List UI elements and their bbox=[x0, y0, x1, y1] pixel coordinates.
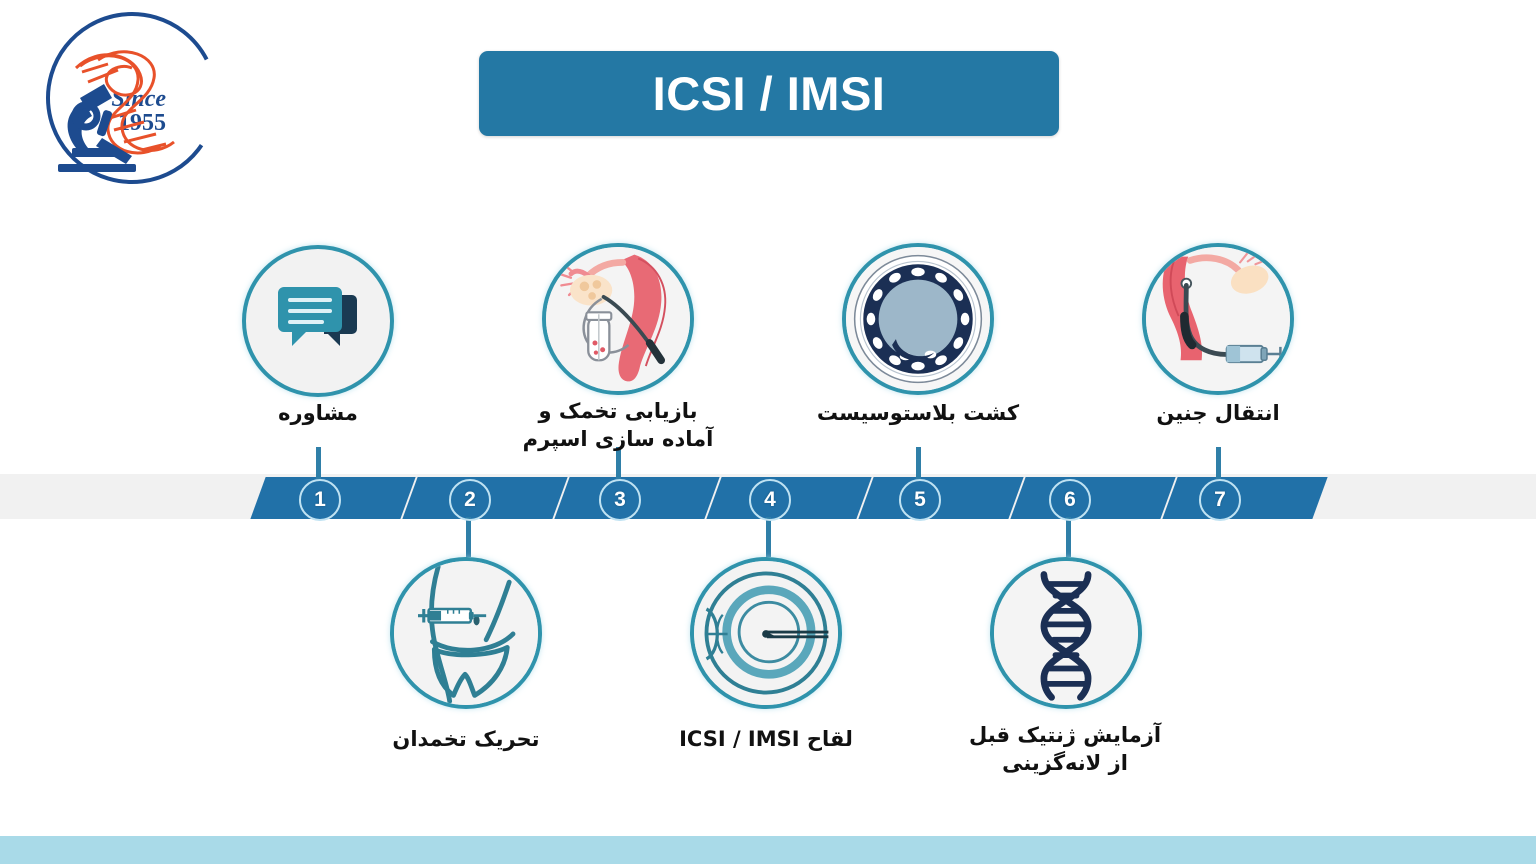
svg-text:Armin Pathobiology Lab: Armin Pathobiology Lab bbox=[14, 6, 25, 12]
icsi-injection-icon bbox=[694, 558, 838, 708]
company-logo: Armin Pathobiology Lab Since 1955 bbox=[14, 6, 254, 196]
step-number-2: 2 bbox=[449, 479, 491, 521]
step-icon-circle-3[interactable] bbox=[542, 243, 694, 395]
embryo-transfer-icon bbox=[1146, 244, 1290, 394]
abdomen-injection-icon bbox=[394, 558, 538, 708]
connector-step-1 bbox=[316, 447, 321, 479]
page-title: ICSI / IMSI bbox=[653, 66, 886, 121]
step-label-7: انتقال جنین bbox=[1108, 400, 1328, 428]
step-number-3: 3 bbox=[599, 479, 641, 521]
connector-step-7 bbox=[1216, 447, 1221, 479]
step-number-5: 5 bbox=[899, 479, 941, 521]
step-icon-circle-2[interactable] bbox=[390, 557, 542, 709]
step-label-5: کشت بلاستوسیست bbox=[808, 400, 1028, 428]
step-icon-circle-6[interactable] bbox=[990, 557, 1142, 709]
page-title-banner: ICSI / IMSI bbox=[479, 51, 1059, 136]
step-icon-circle-7[interactable] bbox=[1142, 243, 1294, 395]
step-number-1: 1 bbox=[299, 479, 341, 521]
step-icon-circle-4[interactable] bbox=[690, 557, 842, 709]
step-number-6: 6 bbox=[1049, 479, 1091, 521]
footer-bar bbox=[0, 836, 1536, 864]
infographic-canvas: Armin Pathobiology Lab Since 1955 bbox=[0, 0, 1536, 864]
step-icon-circle-1[interactable] bbox=[242, 245, 394, 397]
step-label-3: بازیابی تخمک و آماده سازی اسپرم bbox=[498, 398, 738, 453]
egg-retrieval-icon bbox=[546, 244, 690, 394]
step-label-1: مشاوره bbox=[208, 400, 428, 428]
step-icon-circle-5[interactable] bbox=[842, 243, 994, 395]
blastocyst-icon bbox=[846, 244, 990, 394]
step-number-7: 7 bbox=[1199, 479, 1241, 521]
connector-step-5 bbox=[916, 447, 921, 479]
timeline-chevron-5[interactable] bbox=[858, 477, 1023, 519]
step-number-4: 4 bbox=[749, 479, 791, 521]
step-label-4: لقاح ICSI / IMSI bbox=[656, 726, 876, 754]
chat-bubbles-icon bbox=[266, 269, 370, 373]
connector-step-2 bbox=[466, 517, 471, 557]
step-label-6: آزمایش ژنتیک قبل از لانه‌گزینی bbox=[940, 722, 1190, 777]
timeline-chevron-6[interactable] bbox=[1010, 477, 1175, 519]
connector-step-6 bbox=[1066, 517, 1071, 557]
connector-step-4 bbox=[766, 517, 771, 557]
timeline-chevron-7[interactable] bbox=[1162, 477, 1327, 519]
dna-helix-icon bbox=[994, 558, 1138, 708]
step-label-2: تحریک تخمدان bbox=[356, 726, 576, 754]
